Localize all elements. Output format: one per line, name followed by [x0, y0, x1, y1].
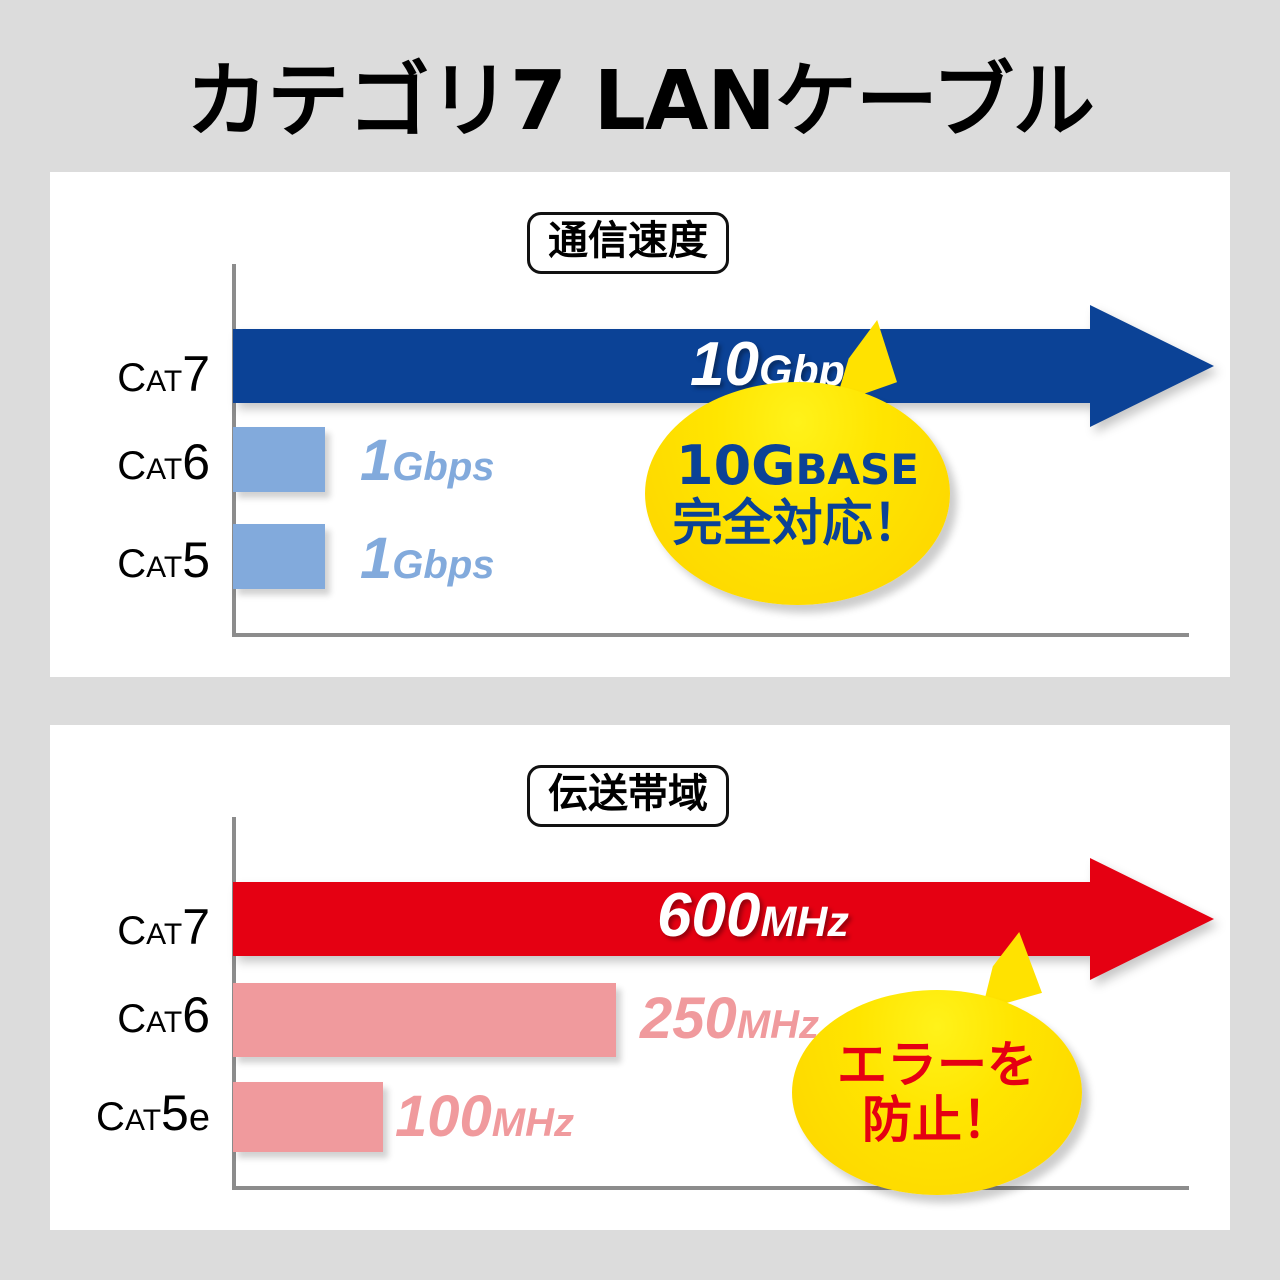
bar-cat6-speed: [233, 427, 325, 492]
value-label-cat7-bandwidth: 600MHz: [657, 885, 849, 947]
callout-line1-big: 10G: [676, 434, 795, 497]
cat-number: 6: [182, 987, 210, 1043]
value-big: 600: [657, 881, 760, 950]
value-label-cat5e-speed: 1Gbps: [360, 530, 495, 588]
cat-prefix-c: C: [117, 542, 146, 586]
cat-prefix-at: AT: [125, 1104, 161, 1137]
bar-cat6-bandwidth: [233, 983, 616, 1057]
callout-line2: 完全対応！: [673, 498, 923, 549]
chart-panel-bandwidth: 伝送帯域 CAT7 CAT6 CAT5e 600MHz 250MHz 100: [50, 725, 1230, 1230]
value-small: MHz: [760, 898, 848, 946]
cat-number: 5: [161, 1085, 189, 1141]
chart-heading-bandwidth: 伝送帯域: [527, 765, 729, 827]
value-big: 250: [640, 986, 737, 1051]
cat-number: 5: [182, 532, 210, 588]
cat-prefix-at: AT: [146, 1006, 182, 1039]
cat-prefix-c: C: [117, 997, 146, 1041]
callout-text: エラーを 防止！: [792, 990, 1082, 1195]
callout-line1-big: エラーを: [837, 1040, 1037, 1091]
cat-prefix-c: C: [117, 909, 146, 953]
category-label-cat6-bandwidth: CAT6: [50, 990, 210, 1040]
value-small: Gbps: [392, 543, 494, 587]
value-big: 1: [360, 428, 392, 493]
chart-heading-speed: 通信速度: [527, 212, 729, 274]
category-label-cat6-speed: CAT6: [50, 437, 210, 487]
callout-text: 10GBASE 完全対応！: [645, 382, 950, 605]
value-label-cat5e-bandwidth: 100MHz: [395, 1088, 574, 1146]
cat-prefix-at: AT: [146, 365, 182, 398]
value-big: 1: [360, 526, 392, 591]
category-label-cat7-bandwidth: CAT7: [50, 902, 210, 952]
cat-prefix-c: C: [117, 356, 146, 400]
value-label-cat6-speed: 1Gbps: [360, 432, 495, 490]
category-label-cat5e-speed: CAT5: [50, 535, 210, 585]
callout-line2: 防止！: [862, 1095, 1012, 1146]
callout-line1-small: BASE: [796, 445, 919, 494]
chart-panel-speed: 通信速度 CAT7 CAT6 CAT5 10Gbps 1Gbps 1Gbps: [50, 172, 1230, 677]
cat-prefix-c: C: [117, 444, 146, 488]
cat-number: 7: [182, 899, 210, 955]
bar-cat5e-bandwidth: [233, 1082, 383, 1152]
cat-prefix-c: C: [96, 1095, 125, 1139]
cat-prefix-at: AT: [146, 453, 182, 486]
x-axis-line-speed: [232, 633, 1189, 637]
category-label-cat5e-bandwidth: CAT5e: [50, 1088, 210, 1138]
cat-suffix: e: [189, 1097, 210, 1139]
callout-bubble-bandwidth: エラーを 防止！: [792, 990, 1082, 1195]
page-title: カテゴリ7 LANケーブル: [0, 34, 1280, 153]
cat-prefix-at: AT: [146, 551, 182, 584]
cat-prefix-at: AT: [146, 918, 182, 951]
value-small: Gbps: [392, 445, 494, 489]
value-big: 100: [395, 1084, 492, 1149]
bar-cat5e-speed: [233, 524, 325, 589]
cat-number: 7: [182, 346, 210, 402]
value-small: MHz: [492, 1101, 574, 1145]
callout-bubble-speed: 10GBASE 完全対応！: [645, 382, 950, 605]
category-label-cat7-speed: CAT7: [50, 349, 210, 399]
cat-number: 6: [182, 434, 210, 490]
